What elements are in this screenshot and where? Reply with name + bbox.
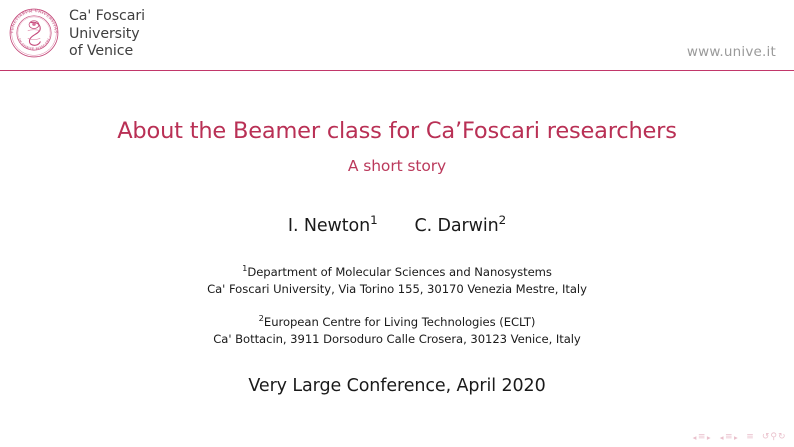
frame-marker-icon[interactable]: ≡ xyxy=(724,433,733,442)
affiliation-entry: 2European Centre for Living Technologies… xyxy=(0,314,794,347)
affiliation-list: 1Department of Molecular Sciences and Na… xyxy=(0,236,794,347)
author-entry: I. Newton1 xyxy=(288,216,378,236)
slide-navigation-group: ◂ ≡ ▸ xyxy=(692,433,712,442)
author-affiliation-marker: 1 xyxy=(370,213,377,227)
section-navigation-group: ≡ xyxy=(746,433,755,442)
author-entry: C. Darwin2 xyxy=(415,216,507,236)
event-and-date: Very Large Conference, April 2020 xyxy=(0,347,794,396)
slide-header: VENETIARVM VNIVERSITAS · IN FONTE FOSCAR… xyxy=(0,0,794,71)
website-url[interactable]: www.unive.it xyxy=(687,44,776,60)
affiliation-organization: 2European Centre for Living Technologies… xyxy=(259,315,536,329)
title-page: About the Beamer class for Ca’Foscari re… xyxy=(0,71,794,427)
slide-marker-icon[interactable]: ≡ xyxy=(697,433,706,442)
svg-text:VENETIARVM VNIVERSITAS: VENETIARVM VNIVERSITAS xyxy=(9,8,59,35)
affiliation-address: Ca' Bottacin, 3911 Dorsoduro Calle Crose… xyxy=(0,331,794,348)
document-navigation-group: ↺ ⚲ ↻ xyxy=(761,433,786,442)
affiliation-organization-text: European Centre for Living Technologies … xyxy=(264,315,535,329)
affiliation-organization-text: Department of Molecular Sciences and Nan… xyxy=(247,265,552,279)
frame-navigation-group: ◂ ≡ ▸ xyxy=(719,433,739,442)
presentation-subtitle: A short story xyxy=(0,145,794,175)
author-name: I. Newton xyxy=(288,216,370,236)
next-slide-icon[interactable]: ▸ xyxy=(706,434,712,442)
presentation-title: About the Beamer class for Ca’Foscari re… xyxy=(0,71,794,145)
next-frame-icon[interactable]: ▸ xyxy=(733,434,739,442)
beamer-navigation-bar: ◂ ≡ ▸ ◂ ≡ ▸ ≡ ↺ ⚲ ↻ xyxy=(692,433,786,442)
wordmark-line-2: University xyxy=(69,26,145,44)
svg-text:· IN FONTE FOSCARI ·: · IN FONTE FOSCARI · xyxy=(16,35,52,51)
author-list: I. Newton1 C. Darwin2 xyxy=(0,175,794,236)
affiliation-entry: 1Department of Molecular Sciences and Na… xyxy=(0,264,794,297)
find-icon[interactable]: ⚲ xyxy=(770,433,778,442)
university-wordmark: Ca' Foscari University of Venice xyxy=(69,8,145,61)
ca-foscari-seal-icon: VENETIARVM VNIVERSITAS · IN FONTE FOSCAR… xyxy=(8,7,60,59)
affiliation-address: Ca' Foscari University, Via Torino 155, … xyxy=(0,281,794,298)
author-affiliation-marker: 2 xyxy=(499,213,506,227)
affiliation-organization: 1Department of Molecular Sciences and Na… xyxy=(242,265,552,279)
wordmark-line-3: of Venice xyxy=(69,43,145,61)
author-name: C. Darwin xyxy=(415,216,499,236)
forward-icon[interactable]: ↻ xyxy=(777,433,786,442)
wordmark-line-1: Ca' Foscari xyxy=(69,8,145,26)
back-icon[interactable]: ↺ xyxy=(761,433,770,442)
section-marker-icon[interactable]: ≡ xyxy=(746,433,755,442)
university-logo: VENETIARVM VNIVERSITAS · IN FONTE FOSCAR… xyxy=(8,7,145,61)
